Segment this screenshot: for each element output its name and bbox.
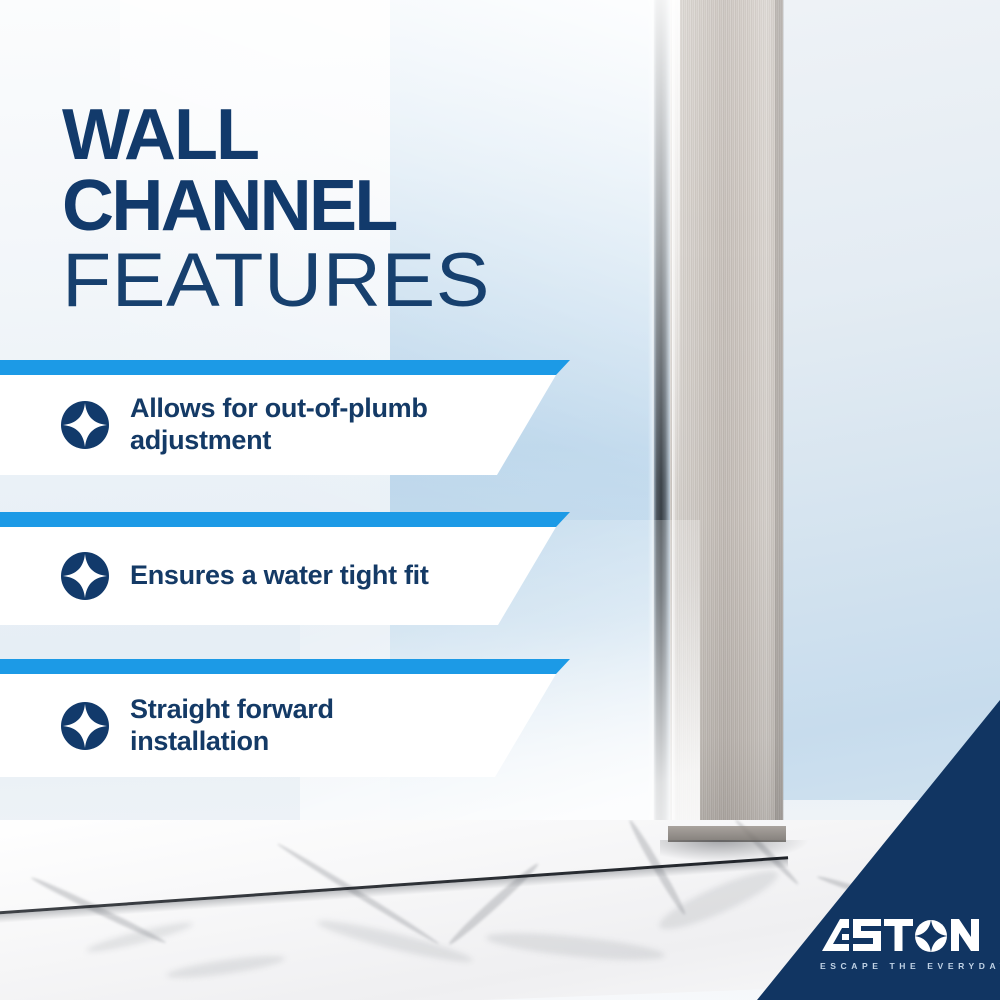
aston-logo: ESCAPE THE EVERYDAY [820,916,980,971]
wall-right-of-channel [783,0,1000,800]
title-line-1: WALL [62,100,532,171]
star-badge-icon [60,551,110,601]
page-title: WALL CHANNEL FEATURES [62,100,532,319]
wall-channel-base-shadow [660,840,810,862]
promo-graphic: WALL CHANNEL FEATURES Allows for out-of-… [0,0,1000,1000]
aston-tagline: ESCAPE THE EVERYDAY [820,961,980,971]
feature-card-3-accent-bar [0,659,570,674]
feature-card-1-text: Allows for out-of-plumb adjustment [130,393,428,457]
feature-card-2-body: Ensures a water tight fit [0,527,560,625]
title-line-2: CHANNEL [62,171,532,242]
feature-card-3-body: Straight forward installation [0,674,560,777]
aston-wordmark [820,916,980,958]
feature-card-2-accent-bar [0,512,570,527]
feature-card-1-accent-bar [0,360,570,375]
feature-card-2-text: Ensures a water tight fit [130,560,429,592]
star-badge-icon [60,701,110,751]
title-line-3: FEATURES [62,243,560,319]
feature-card-1-body: Allows for out-of-plumb adjustment [0,375,560,475]
wall-channel-right-edge [775,0,784,838]
star-badge-icon [60,400,110,450]
feature-card-3-text: Straight forward installation [130,694,334,758]
